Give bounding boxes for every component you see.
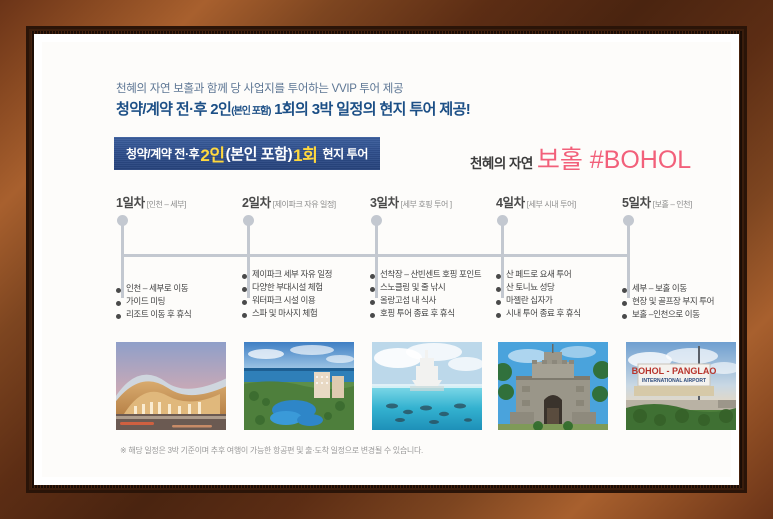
- day-header: 4일차[세부 시내 투어]: [496, 192, 576, 212]
- bullet-dot-icon: [116, 301, 121, 306]
- list-item: 보홀 –인천으로 이동: [622, 310, 739, 319]
- banner-part3: 현지 투어: [322, 145, 368, 162]
- bullet-dot-icon: [116, 314, 121, 319]
- bullet-dot-icon: [242, 300, 247, 305]
- offer-banner: 청약/계약 전·후 2인 (본인 포함) 1회 현지 투어: [114, 137, 380, 170]
- bullet-dot-icon: [622, 301, 627, 306]
- bullet-dot-icon: [496, 274, 501, 279]
- bullet-dot-icon: [622, 288, 627, 293]
- airport-terminal-image: [116, 342, 226, 430]
- day-subtitle: [제이파크 자유 일정]: [273, 200, 336, 209]
- timeline-day-5: 5일차[보홀 – 인천] 세부 – 보홀 이동 현장 및 골프장 부지 투어 보…: [622, 192, 692, 226]
- day-subtitle: [세부 시내 투어]: [527, 200, 576, 209]
- banner-highlight-persons: 2인: [200, 141, 224, 166]
- header-title-note: (본인 포함): [231, 106, 270, 117]
- bullet-dot-icon: [242, 274, 247, 279]
- bullet-dot-icon: [116, 288, 121, 293]
- banner-part2: (본인 포함): [226, 143, 293, 164]
- banner-part1: 청약/계약 전·후: [126, 145, 199, 162]
- bullet-dot-icon: [242, 313, 247, 318]
- wooden-picture-frame: 천혜의 자연 보홀과 함께 당 사업지를 투어하는 VVIP 투어 제공 청약/…: [0, 0, 773, 519]
- footnote-disclaimer: ※ 해당 일정은 3박 기준이며 추후 여행이 가능한 항공편 및 출·도착 일…: [120, 445, 423, 456]
- bullet-dot-icon: [370, 274, 375, 279]
- day-bullet-list: 세부 – 보홀 이동 현장 및 골프장 부지 투어 보홀 –인천으로 이동: [622, 284, 739, 323]
- timeline-horizontal-rail: [121, 254, 627, 257]
- day-subtitle: [인천 – 세부]: [147, 200, 186, 209]
- timeline-day-2: 2일차[제이파크 자유 일정] 제이파크 세부 자유 일정 다양한 부대시설 체…: [242, 192, 336, 226]
- resort-aerial-image: [244, 342, 354, 430]
- destination-name: 보홀 #BOHOL: [537, 146, 691, 174]
- list-item: 세부 – 보홀 이동: [622, 284, 739, 293]
- photo-gallery: BOHOL - PANGLAO INTERNATIONAL AIRPORT: [116, 342, 736, 430]
- timeline-day-1: 1일차[인천 – 세부] 인천 – 세부로 이동 가이드 미팅 리조트 이동 후…: [116, 192, 186, 226]
- day-number: 2일차: [242, 196, 271, 210]
- header-title-part2: 1회의 3박 일정의 현지 투어 제공!: [271, 101, 471, 118]
- photo-resort-aerial: [244, 342, 354, 430]
- bullet-dot-icon: [242, 287, 247, 292]
- day-subtitle: [세부 호핑 투어 ]: [401, 200, 452, 209]
- day-number: 1일차: [116, 196, 145, 210]
- poster-content: 천혜의 자연 보홀과 함께 당 사업지를 투어하는 VVIP 투어 제공 청약/…: [42, 42, 731, 477]
- day-header: 3일차[세부 호핑 투어 ]: [370, 192, 452, 212]
- timeline-day-3: 3일차[세부 호핑 투어 ] 선착장 – 산빈센트 호핑 포인트 스노클링 및 …: [370, 192, 452, 226]
- photo-mactan-cebu-airport: [116, 342, 226, 430]
- destination-title: 천혜의 자연 보홀 #BOHOL: [470, 140, 691, 176]
- day-number: 4일차: [496, 196, 525, 210]
- fort-stone-gate-image: [498, 342, 608, 430]
- header-subtitle: 천혜의 자연 보홀과 함께 당 사업지를 투어하는 VVIP 투어 제공: [116, 80, 403, 96]
- header-title-part1: 청약/계약 전·후 2인: [116, 101, 231, 118]
- bullet-dot-icon: [496, 313, 501, 318]
- bullet-dot-icon: [622, 314, 627, 319]
- day-header: 1일차[인천 – 세부]: [116, 192, 186, 212]
- day-header: 2일차[제이파크 자유 일정]: [242, 192, 336, 212]
- bullet-dot-icon: [370, 313, 375, 318]
- photo-snorkeling-underwater: [372, 342, 482, 430]
- list-item: 현장 및 골프장 부지 투어: [622, 297, 739, 306]
- banner-highlight-count: 1회: [293, 141, 317, 166]
- destination-prefix: 천혜의 자연: [470, 156, 533, 171]
- underwater-snorkel-image: [372, 342, 482, 430]
- day-header: 5일차[보홀 – 인천]: [622, 192, 692, 212]
- timeline-day-4: 4일차[세부 시내 투어] 산 페드로 요새 투어 산 토니뇨 성당 마젤란 십…: [496, 192, 576, 226]
- bullet-dot-icon: [370, 287, 375, 292]
- bullet-dot-icon: [496, 300, 501, 305]
- poster-canvas: 천혜의 자연 보홀과 함께 당 사업지를 투어하는 VVIP 투어 제공 청약/…: [34, 34, 739, 485]
- sign-line2: INTERNATIONAL AIRPORT: [642, 378, 706, 384]
- airport-sign-image: BOHOL - PANGLAO INTERNATIONAL AIRPORT: [626, 342, 736, 430]
- day-subtitle: [보홀 – 인천]: [653, 200, 692, 209]
- list-item: 산 페드로 요새 투어: [496, 270, 656, 279]
- day-number: 3일차: [370, 196, 399, 210]
- photo-bohol-panglao-airport-sign: BOHOL - PANGLAO INTERNATIONAL AIRPORT: [626, 342, 736, 430]
- day-number: 5일차: [622, 196, 651, 210]
- sign-line1: BOHOL - PANGLAO: [632, 366, 717, 376]
- bullet-dot-icon: [370, 300, 375, 305]
- photo-fort-san-pedro: [498, 342, 608, 430]
- itinerary-timeline: 1일차[인천 – 세부] 인천 – 세부로 이동 가이드 미팅 리조트 이동 후…: [42, 192, 731, 332]
- header-title: 청약/계약 전·후 2인(본인 포함) 1회의 3박 일정의 현지 투어 제공!: [116, 98, 470, 119]
- bullet-dot-icon: [496, 287, 501, 292]
